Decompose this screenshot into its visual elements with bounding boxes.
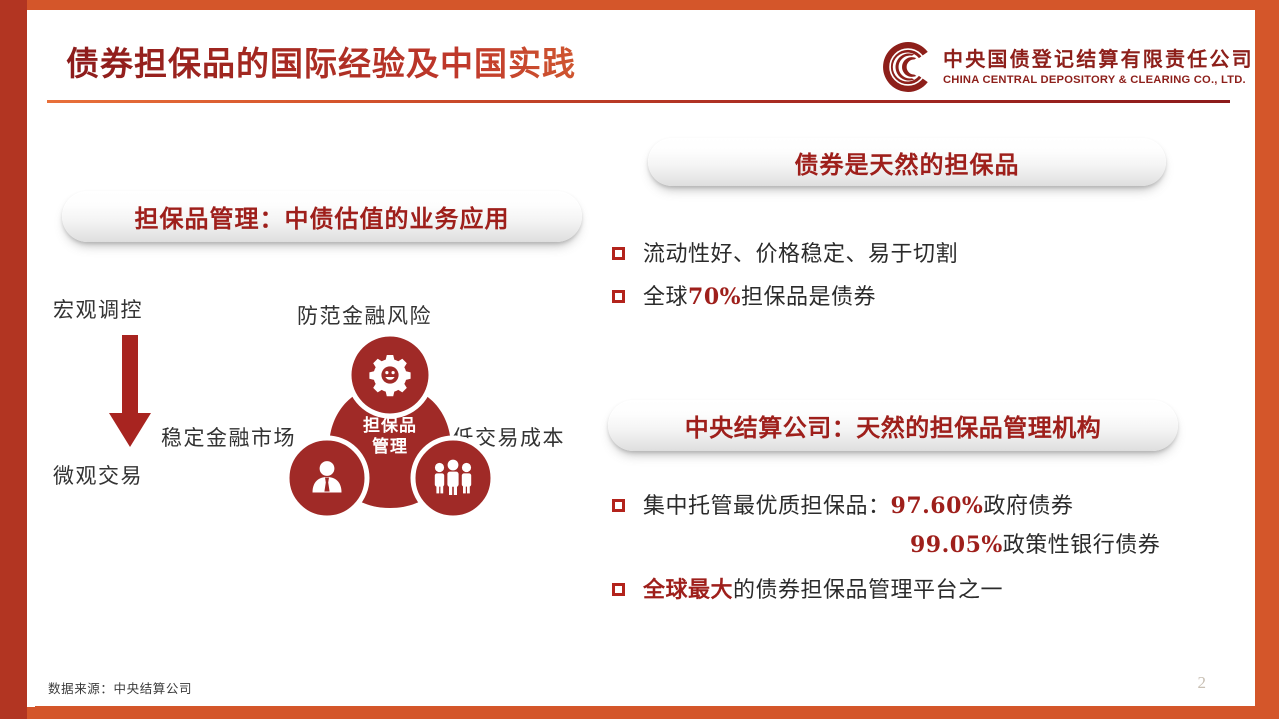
venn-cluster: 担保品 管理 xyxy=(285,330,495,522)
logo-text-block: 中央国债登记结算有限责任公司 CHINA CENTRAL DEPOSITORY … xyxy=(943,48,1254,86)
frame-right-bar xyxy=(1255,0,1279,719)
square-bullet-icon xyxy=(612,247,625,260)
gear-icon xyxy=(369,355,410,396)
bullet-highlight-lead: 全球最大 xyxy=(643,577,733,603)
panel-heading-ccdc-natural-institution: 中央结算公司：天然的担保品管理机构 xyxy=(608,400,1178,451)
list-item: 流动性好、价格稳定、易于切割 xyxy=(612,239,1172,270)
square-bullet-icon xyxy=(612,499,625,512)
company-logo: 中央国债登记结算有限责任公司 CHINA CENTRAL DEPOSITORY … xyxy=(882,41,1254,93)
square-bullet-icon xyxy=(612,583,625,596)
bullet-text: 全球70%担保品是债券 xyxy=(643,282,876,313)
frame-top-bar xyxy=(0,0,1279,10)
list-item: 全球70%担保品是债券 xyxy=(612,282,1172,313)
bullet-continuation-suffix: 政策性银行债券 xyxy=(1003,533,1161,558)
panel-heading-bonds-natural-collateral: 债券是天然的担保品 xyxy=(648,138,1166,186)
bullet-prefix: 全球 xyxy=(643,285,688,310)
bullet-continuation-highlight: 99.05% xyxy=(910,532,1003,558)
bullet-suffix: 的债券担保品管理平台之一 xyxy=(733,578,1003,603)
bullet-text: 集中托管最优质担保品：97.60%政府债券 xyxy=(643,491,1073,522)
bullet-text: 流动性好、价格稳定、易于切割 xyxy=(643,239,958,270)
list-item: 全球最大的债券担保品管理平台之一 xyxy=(612,575,1192,606)
diagram-label-micro: 微观交易 xyxy=(53,460,143,490)
collateral-management-diagram: 宏观调控 微观交易 防范金融风险 稳定金融市场 降低交易成本 xyxy=(30,282,590,532)
slide-canvas: 债券担保品的国际经验及中国实践 中央国债登记结算有限责任公司 CHINA CEN… xyxy=(0,0,1279,719)
frame-bottom-bar xyxy=(0,706,1279,719)
logo-chinese-name: 中央国债登记结算有限责任公司 xyxy=(943,48,1254,71)
source-footnote: 数据来源：中央结算公司 xyxy=(48,678,192,697)
bullet-suffix: 担保品是债券 xyxy=(741,285,876,310)
diagram-label-left: 稳定金融市场 xyxy=(161,422,296,452)
panel-heading-collateral-management: 担保品管理：中债估值的业务应用 xyxy=(62,191,582,242)
bullet-continuation-line: 99.05%政策性银行债券 xyxy=(612,530,1192,561)
bullet-highlight: 70% xyxy=(688,284,741,310)
diagram-label-top: 防范金融风险 xyxy=(297,300,432,330)
venn-shapes xyxy=(285,330,495,522)
logo-english-name: CHINA CENTRAL DEPOSITORY & CLEARING CO.,… xyxy=(943,74,1254,86)
bullet-text: 全球最大的债券担保品管理平台之一 xyxy=(643,575,1003,606)
bullet-list-bonds: 流动性好、价格稳定、易于切割 全球70%担保品是债券 xyxy=(612,239,1172,325)
diagram-label-macro: 宏观调控 xyxy=(53,294,143,324)
bullet-prefix: 集中托管最优质担保品： xyxy=(643,494,891,519)
page-title: 债券担保品的国际经验及中国实践 xyxy=(66,37,576,85)
bullet-list-ccdc: 集中托管最优质担保品：97.60%政府债券 99.05%政策性银行债券 全球最大… xyxy=(612,491,1192,619)
list-item: 集中托管最优质担保品：97.60%政府债券 xyxy=(612,491,1192,522)
bullet-highlight: 97.60% xyxy=(891,493,984,519)
bullet-suffix: 政府债券 xyxy=(983,494,1073,519)
square-bullet-icon xyxy=(612,290,625,303)
ccdc-c-mark-icon xyxy=(882,41,934,93)
page-number: 2 xyxy=(1198,673,1207,693)
title-underline-rule xyxy=(47,100,1230,103)
frame-left-bar xyxy=(0,0,27,719)
down-arrow-icon xyxy=(106,335,154,451)
